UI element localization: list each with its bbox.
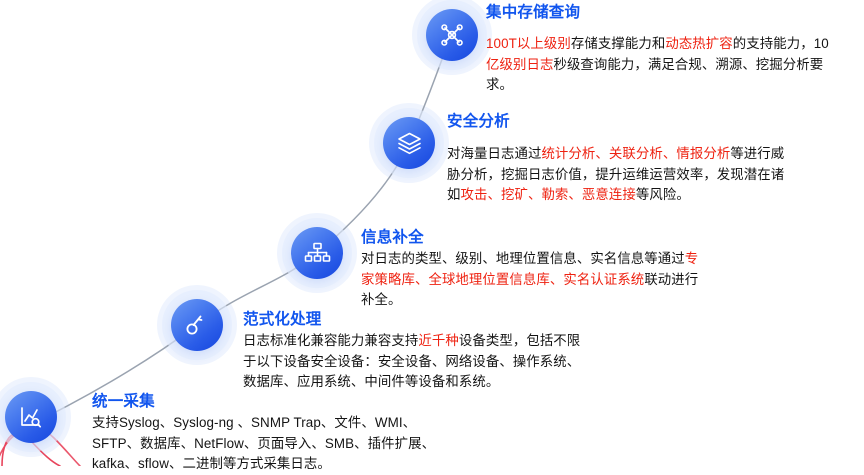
body-central-storage-query: 100T以上级别存储支撑能力和动态热扩容的支持能力，10亿级别日志秒级查询能力，… xyxy=(486,34,864,96)
highlighted-term: 家策略库、全球地理位置信息库、实名认证系统 xyxy=(361,272,644,287)
body-text-run: 对日志的类型、级别、地理位置信息、实名信息等通过 xyxy=(361,251,685,266)
heading-unified-collection: 统一采集 xyxy=(92,392,512,412)
body-text-run: 联动进行 xyxy=(644,272,698,287)
highlighted-term: 亿级别日志 xyxy=(486,57,553,72)
chart-search-icon xyxy=(17,403,45,431)
heading-normalization: 范式化处理 xyxy=(243,310,683,330)
highlighted-term: 100T以上级别 xyxy=(486,36,571,51)
block-information-enrichment: 信息补全 对日志的类型、级别、地理位置信息、实名信息等通过专家策略库、全球地理位… xyxy=(361,228,821,311)
block-security-analysis: 安全分析 对海量日志通过统计分析、关联分析、情报分析等进行威胁分析，挖掘日志价值… xyxy=(447,112,864,206)
body-text-run: 补全。 xyxy=(361,292,401,307)
body-text-run: 于以下设备安全设备：安全设备、网络设备、操作系统、 xyxy=(243,354,580,369)
body-text-run: 设备类型，包括不限 xyxy=(459,333,580,348)
body-text-run: 等进行威 xyxy=(730,146,784,161)
body-text-run: 数据库、应用系统、中间件等设备和系统。 xyxy=(243,374,499,389)
body-normalization: 日志标准化兼容能力兼容支持近千种设备类型，包括不限于以下设备安全设备：安全设备、… xyxy=(243,331,683,393)
heading-security-analysis: 安全分析 xyxy=(447,112,864,132)
body-text-run: 对海量日志通过 xyxy=(447,146,541,161)
body-security-analysis: 对海量日志通过统计分析、关联分析、情报分析等进行威胁分析，挖掘日志价值，提升运维… xyxy=(447,144,864,206)
node-central-storage-query[interactable] xyxy=(426,9,478,61)
body-text-run: 秒级查询能力，满足合规、溯源、挖掘分析要 xyxy=(553,57,823,72)
heading-information-enrichment: 信息补全 xyxy=(361,228,821,248)
body-text-run: 存储支撑能力和 xyxy=(571,36,665,51)
key-icon xyxy=(184,312,210,338)
body-text-run: 胁分析，挖掘日志价值，提升运维运营效率，发现潜在诸 xyxy=(447,167,784,182)
body-text-run: 求。 xyxy=(486,77,513,92)
highlighted-term: 近千种 xyxy=(418,333,458,348)
heading-central-storage-query: 集中存储查询 xyxy=(486,3,864,23)
block-unified-collection: 统一采集 支持Syslog、Syslog-ng 、SNMP Trap、文件、WM… xyxy=(92,392,512,475)
infographic-stage: 统一采集 支持Syslog、Syslog-ng 、SNMP Trap、文件、WM… xyxy=(0,0,864,466)
body-unified-collection: 支持Syslog、Syslog-ng 、SNMP Trap、文件、WMI、SFT… xyxy=(92,413,512,475)
body-text-run: 等风险。 xyxy=(636,187,690,202)
highlighted-term: 攻击、挖矿、勒索、恶意连接 xyxy=(461,187,636,202)
body-information-enrichment: 对日志的类型、级别、地理位置信息、实名信息等通过专家策略库、全球地理位置信息库、… xyxy=(361,249,821,311)
body-text-run: 支持Syslog、Syslog-ng 、SNMP Trap、文件、WMI、 xyxy=(92,415,416,430)
body-text-run: 日志标准化兼容能力兼容支持 xyxy=(243,333,418,348)
network-nodes-icon xyxy=(438,21,466,49)
hierarchy-icon xyxy=(304,240,331,267)
node-security-analysis[interactable] xyxy=(383,117,435,169)
body-text-run: 如 xyxy=(447,187,461,202)
highlighted-term: 动态热扩容 xyxy=(665,36,732,51)
node-unified-collection[interactable] xyxy=(5,391,57,443)
layers-icon xyxy=(396,130,423,157)
highlighted-term: 统计分析、关联分析、情报分析 xyxy=(541,146,730,161)
body-text-run: kafka、sflow、二进制等方式采集日志。 xyxy=(92,456,331,471)
node-normalization[interactable] xyxy=(171,299,223,351)
block-central-storage-query: 集中存储查询 100T以上级别存储支撑能力和动态热扩容的支持能力，10亿级别日志… xyxy=(486,3,864,96)
highlighted-term: 专 xyxy=(685,251,699,266)
body-text-run: 的支持能力，10 xyxy=(733,36,829,51)
node-information-enrichment[interactable] xyxy=(291,227,343,279)
block-normalization: 范式化处理 日志标准化兼容能力兼容支持近千种设备类型，包括不限于以下设备安全设备… xyxy=(243,310,683,393)
body-text-run: SFTP、数据库、NetFlow、页面导入、SMB、插件扩展、 xyxy=(92,436,435,451)
